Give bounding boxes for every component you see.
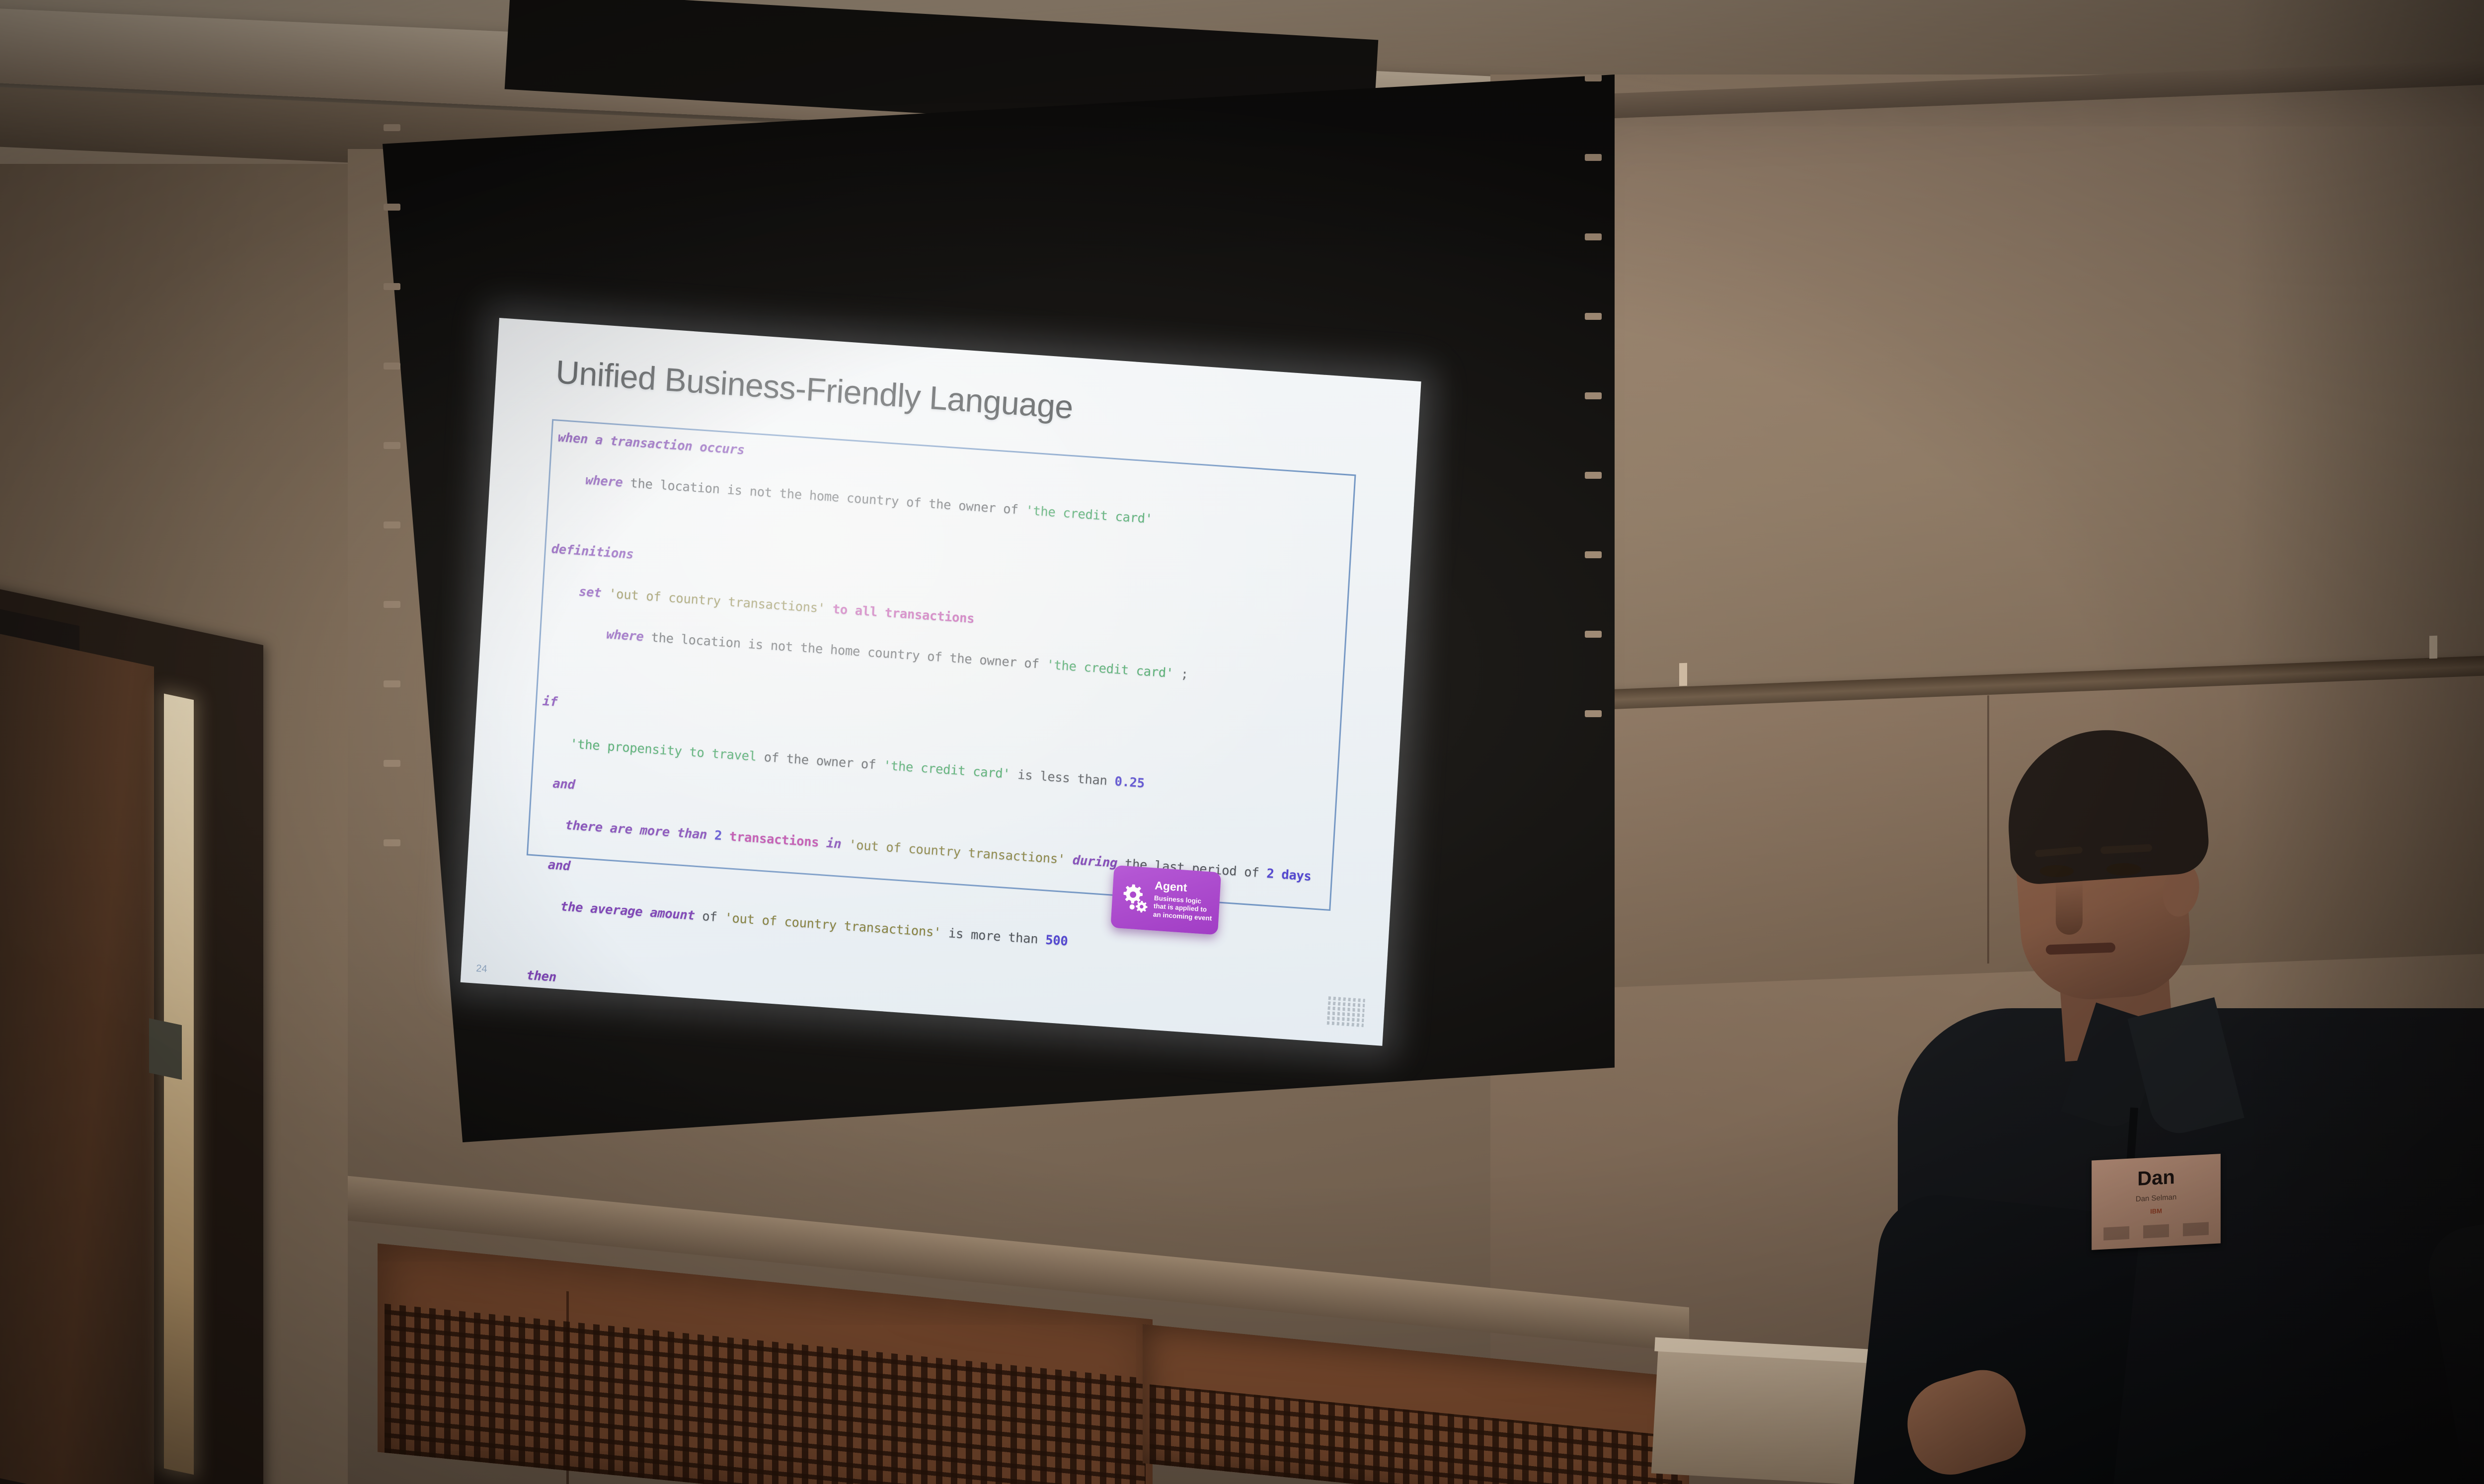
gears-icon — [1117, 881, 1152, 915]
code-token: where — [606, 627, 644, 644]
code-token — [548, 582, 579, 599]
code-token: 'the credit card' — [883, 758, 1010, 782]
code-token — [546, 623, 607, 642]
business-rule-code: when a transaction occurs where the loca… — [515, 428, 1362, 1046]
whiteboard-clip-left — [1679, 663, 1687, 686]
code-token: the location is not the home country of … — [622, 475, 1026, 518]
page-title: Unified Business-Friendly Language — [555, 353, 1074, 426]
code-token: 500 — [1045, 933, 1068, 949]
code-token: of the owner of — [756, 749, 884, 773]
code-token — [530, 897, 561, 914]
ibm-logo-icon — [1326, 996, 1365, 1032]
code-token: is less than — [1009, 767, 1115, 789]
code-token: the location is not the home country of … — [643, 630, 1047, 672]
projected-slide: Unified Business-Friendly Language when … — [461, 318, 1421, 1046]
slide-canvas: Unified Business-Friendly Language when … — [461, 318, 1421, 1046]
agent-badge-title: Agent — [1155, 880, 1216, 895]
code-token: where — [585, 473, 623, 490]
whiteboard-right — [1570, 79, 2484, 756]
code-token: of — [695, 908, 725, 925]
name-badge-first-name: Dan — [2096, 1165, 2216, 1191]
code-token: if — [542, 694, 558, 710]
presenter-eye-right — [2106, 863, 2141, 876]
code-token: during — [1065, 852, 1118, 871]
name-badge: Dan Dan Selman IBM — [2092, 1154, 2221, 1250]
code-token: transactions — [721, 828, 819, 850]
code-token: in — [818, 835, 849, 852]
screen-left-notches — [384, 124, 403, 1018]
name-badge-org: IBM — [2096, 1204, 2216, 1218]
code-token — [540, 735, 570, 751]
screen-right-notches — [1585, 74, 1605, 968]
agent-badge-subtitle: Business logic that is applied to an inc… — [1153, 894, 1215, 923]
code-token: 2 days — [1266, 866, 1312, 884]
presenter-eye-left — [2040, 865, 2074, 877]
presenter: Dan Dan Selman IBM — [1928, 730, 2484, 1484]
code-token: is more than — [940, 925, 1046, 947]
door-push-plate[interactable] — [149, 1018, 182, 1080]
sponsor-logo-2 — [2143, 1224, 2169, 1239]
code-token: 'the credit card' — [1025, 503, 1153, 527]
code-token: 'out of country transactions' — [849, 837, 1066, 867]
code-token: 'the propensity to travel — [569, 737, 757, 764]
sponsor-logo-3 — [2183, 1222, 2209, 1237]
name-badge-full-name: Dan Selman — [2096, 1191, 2216, 1206]
whiteboard-clip-right — [2429, 636, 2437, 659]
code-token: ; — [1173, 666, 1189, 682]
presenter-hair — [2002, 723, 2211, 886]
agent-badge: Agent Business logic that is applied to … — [1110, 865, 1221, 935]
code-token — [538, 775, 553, 791]
code-token: 'out of country transactions' — [608, 586, 825, 616]
code-token: then — [526, 968, 557, 985]
code-token: 0.25 — [1114, 774, 1145, 791]
presenter-nose — [2056, 879, 2083, 935]
radiator-perforations-right — [1150, 1384, 1682, 1484]
code-token: 'out of country transactions' — [724, 910, 941, 940]
radiator-seam — [566, 1291, 569, 1484]
code-token: the average amount — [560, 899, 695, 923]
agent-badge-text: Agent Business logic that is applied to … — [1153, 880, 1216, 923]
radiator-perforations — [385, 1304, 1146, 1484]
door-light-gap — [164, 694, 194, 1475]
sponsor-logo-1 — [2103, 1226, 2129, 1241]
code-token: and — [552, 776, 576, 793]
door-panel — [0, 632, 154, 1484]
code-token: there are more than — [565, 818, 715, 843]
code-token: set — [578, 584, 602, 600]
name-badge-sponsor-logos — [2096, 1222, 2216, 1241]
code-token — [555, 471, 586, 488]
code-token: definitions — [551, 541, 634, 562]
code-token — [535, 816, 566, 832]
door-left[interactable] — [0, 586, 263, 1484]
code-token: 'the credit card' — [1046, 658, 1174, 681]
slide-number: 24 — [476, 963, 488, 975]
code-token: to all transactions — [832, 602, 975, 627]
code-token — [533, 856, 548, 872]
code-token: and — [547, 857, 571, 874]
conference-room-scene: Unified Business-Friendly Language when … — [0, 0, 2484, 1484]
